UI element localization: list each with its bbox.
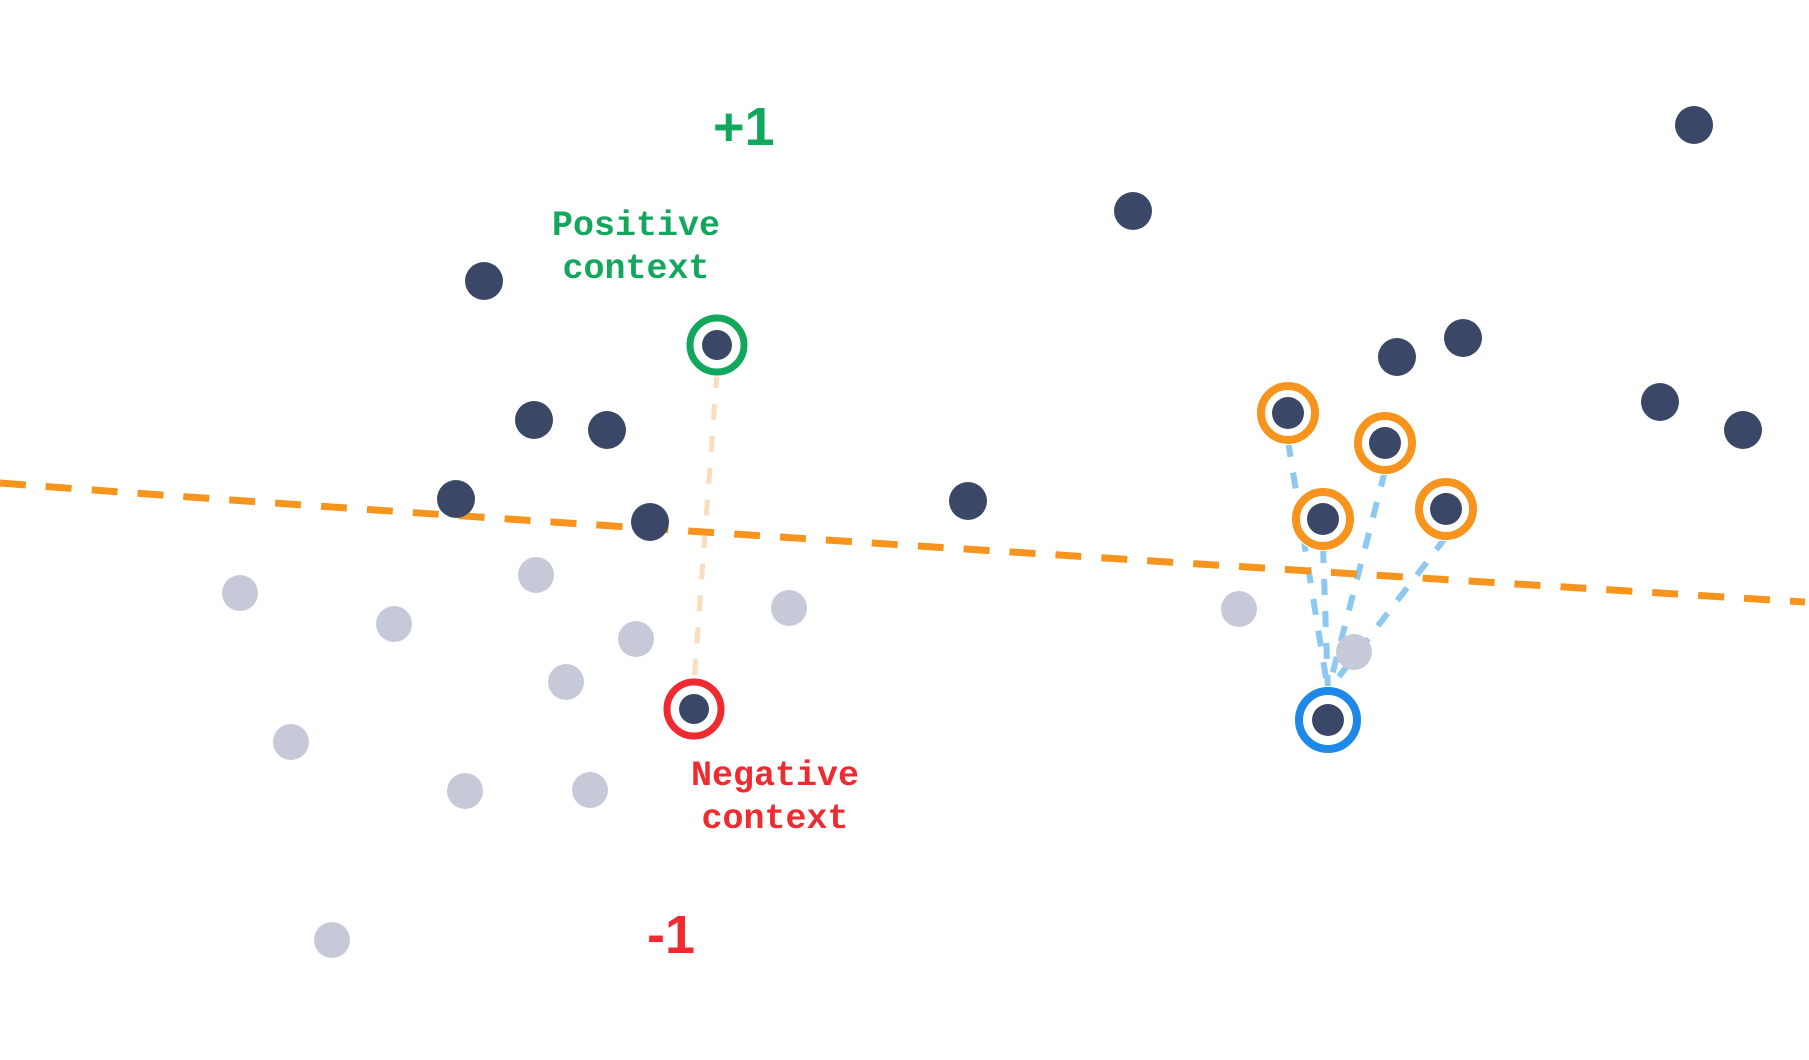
negative-context-label-line: context: [675, 798, 875, 841]
decision-boundary-line: [0, 483, 1805, 602]
embedding-point: [222, 575, 258, 611]
embedding-point: [1724, 411, 1762, 449]
positive-region-sign: +1: [713, 100, 775, 154]
embedding-point: [465, 262, 503, 300]
embedding-point: [618, 621, 654, 657]
anchor-dot: [1272, 397, 1304, 429]
embedding-point: [1641, 383, 1679, 421]
context-link-line: [1288, 441, 1328, 691]
embedding-point: [437, 480, 475, 518]
embedding-point: [572, 772, 608, 808]
anchor-dot: [1369, 427, 1401, 459]
embedding-point: [1444, 319, 1482, 357]
embedding-point: [515, 401, 553, 439]
embedding-point: [1114, 192, 1152, 230]
anchor-dot: [1307, 503, 1339, 535]
scatter-plot-canvas: [0, 0, 1809, 1060]
embedding-space-diagram: +1 Positivecontext Negativecontext -1: [0, 0, 1809, 1060]
positive-class-points: [437, 106, 1762, 541]
negative-context-label: Negativecontext: [675, 755, 875, 840]
embedding-point: [1675, 106, 1713, 144]
embedding-point: [771, 590, 807, 626]
anchor-dot: [679, 694, 709, 724]
positive-context-label-line: context: [536, 248, 736, 291]
embedding-point: [548, 664, 584, 700]
anchor-dot: [702, 330, 732, 360]
negative-context-label-line: Negative: [675, 755, 875, 798]
embedding-point: [518, 557, 554, 593]
embedding-point: [273, 724, 309, 760]
positive-context-label-line: Positive: [536, 205, 736, 248]
embedding-point: [1336, 634, 1372, 670]
embedding-point: [631, 503, 669, 541]
embedding-point: [447, 773, 483, 809]
negative-region-sign: -1: [647, 908, 695, 962]
embedding-point: [949, 482, 987, 520]
embedding-point: [588, 411, 626, 449]
positive-context-label: Positivecontext: [536, 205, 736, 290]
context-link-line: [694, 372, 717, 682]
embedding-point: [314, 922, 350, 958]
decision-boundary: [0, 483, 1805, 602]
highlighted-anchor-points: [663, 314, 1479, 755]
embedding-point: [376, 606, 412, 642]
anchor-dot: [1430, 493, 1462, 525]
anchor-dot: [1312, 704, 1344, 736]
embedding-point: [1378, 338, 1416, 376]
embedding-point: [1221, 591, 1257, 627]
